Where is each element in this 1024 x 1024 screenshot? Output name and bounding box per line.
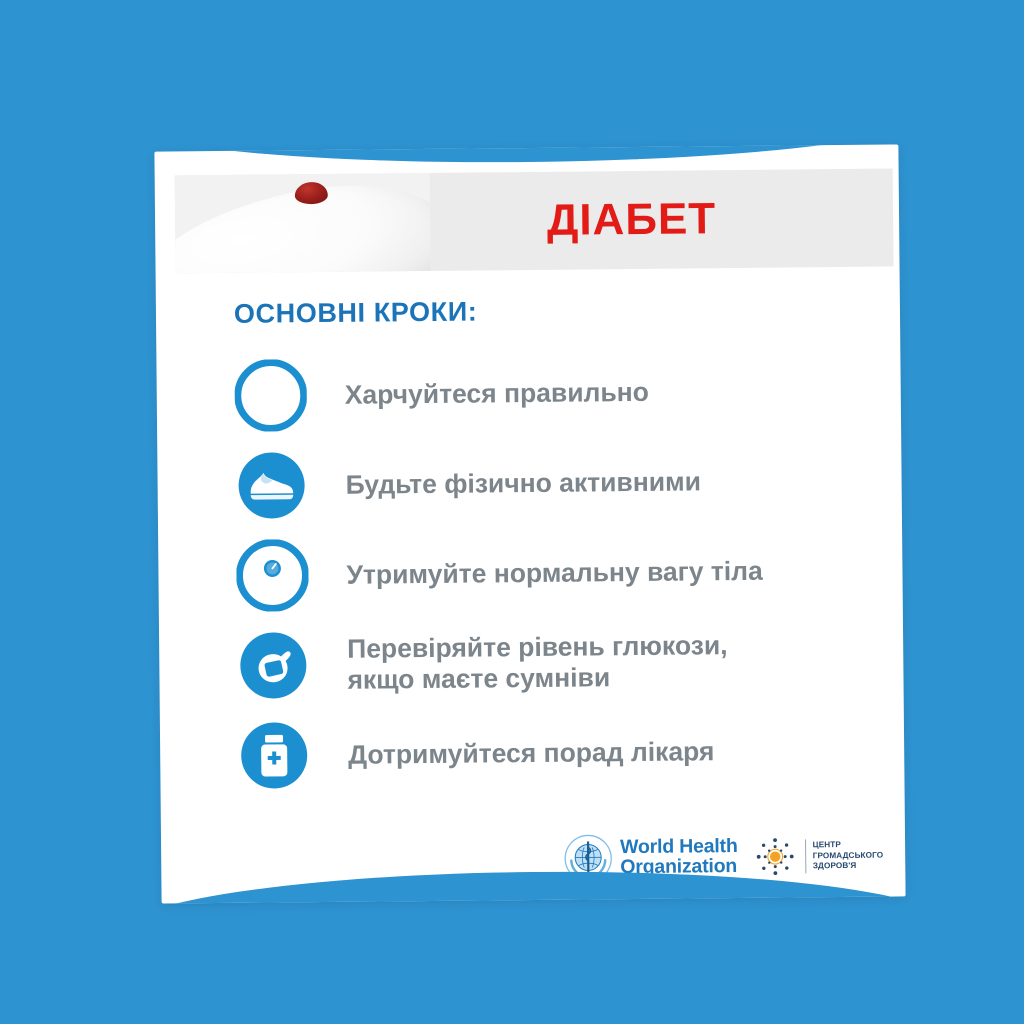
list-item: Дотримуйтеся порад лікаря	[238, 705, 881, 801]
poster-canvas: ДІАБЕТ ОСНОВНІ КРОКИ: Харчуйтеся правиль…	[0, 0, 1024, 1024]
logo-divider	[805, 839, 806, 873]
header-band: ДІАБЕТ	[175, 169, 894, 274]
card-top-edge	[154, 144, 905, 166]
list-item: Харчуйтеся правильно	[234, 345, 877, 441]
phc-logo: ЦЕНТР ГРОМАДСЬКОГО ЗДОРОВ'Я	[751, 833, 883, 880]
header-photo	[175, 173, 431, 273]
card-surface: ДІАБЕТ ОСНОВНІ КРОКИ: Харчуйтеся правиль…	[154, 144, 905, 903]
weight-scale-icon	[236, 539, 309, 612]
list-item-label: Харчуйтеся правильно	[345, 376, 649, 410]
list-item: Утримуйте нормальну вагу тіла	[236, 525, 879, 621]
phc-sun-icon	[751, 833, 797, 879]
blood-drop-icon	[295, 182, 328, 204]
medicine-bottle-icon	[238, 719, 311, 792]
phc-logo-text: ЦЕНТР ГРОМАДСЬКОГО ЗДОРОВ'Я	[813, 839, 884, 873]
glucose-meter-icon	[237, 629, 310, 702]
sneaker-icon	[235, 449, 308, 522]
list-item: Перевіряйте рівень глюкози, якщо маєте с…	[237, 615, 880, 711]
list-item-label: Перевіряйте рівень глюкози, якщо маєте с…	[347, 630, 728, 695]
poster-card: ДІАБЕТ ОСНОВНІ КРОКИ: Харчуйтеся правиль…	[154, 144, 905, 903]
apple-icon	[234, 359, 307, 432]
list-item: Будьте фізично активними	[235, 435, 878, 531]
page-title: ДІАБЕТ	[430, 193, 893, 247]
section-subtitle: ОСНОВНІ КРОКИ:	[234, 296, 478, 329]
list-item-label: Дотримуйтеся порад лікаря	[348, 736, 714, 770]
finger-crease	[175, 269, 279, 274]
steps-list: Харчуйтеся правильно Будьте фізично акти…	[234, 345, 880, 801]
list-item-label: Будьте фізично активними	[345, 466, 701, 500]
list-item-label: Утримуйте нормальну вагу тіла	[346, 555, 763, 590]
